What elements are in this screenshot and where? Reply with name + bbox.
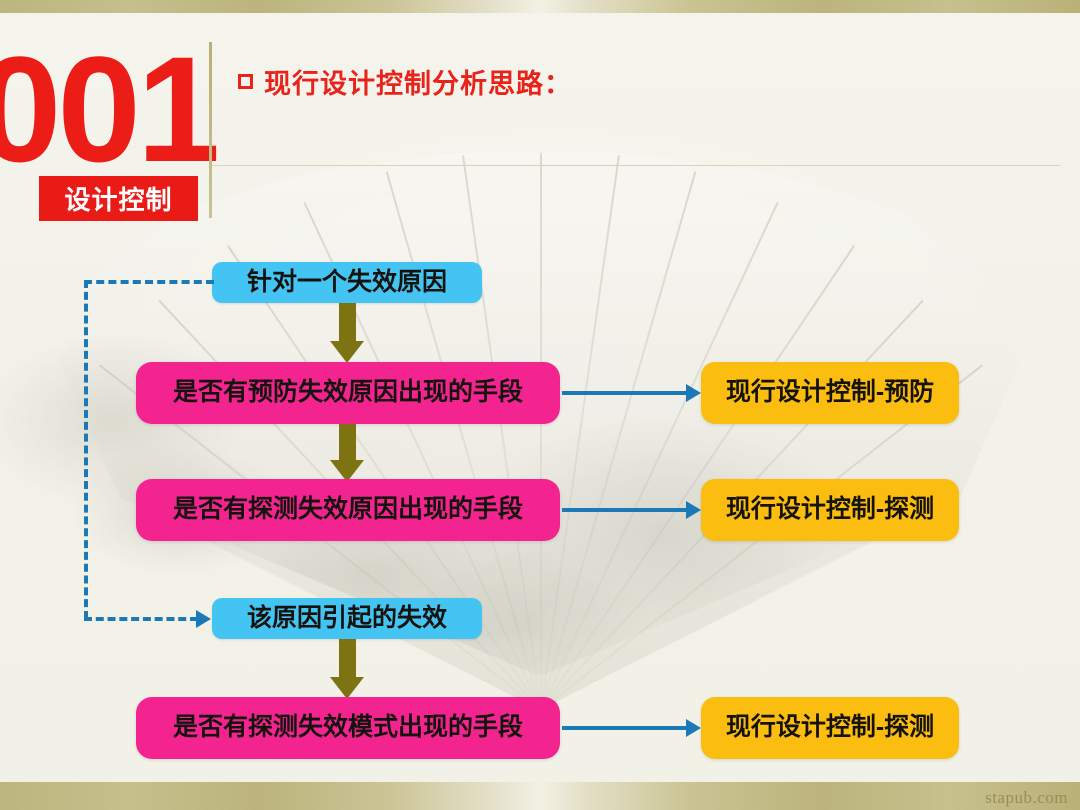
connector-prevent-to-control — [562, 391, 688, 395]
connector-detect-mode-arrowhead — [686, 719, 701, 737]
flow-node-control-prevent-label: 现行设计控制-预防 — [726, 379, 934, 407]
slide-canvas: 001 设计控制 现行设计控制分析思路： 针对一个失效原因 是否有预防失效原因出… — [0, 0, 1080, 810]
flow-node-control-detect-1-label: 现行设计控制-探测 — [726, 496, 934, 524]
flow-node-control-detect-1[interactable]: 现行设计控制-探测 — [701, 479, 959, 541]
flow-node-detect-cause[interactable]: 是否有探测失效原因出现的手段 — [136, 479, 560, 541]
flow-node-failure-mode-label: 该原因引起的失效 — [247, 605, 447, 633]
feedback-dash-bottom — [84, 617, 198, 621]
flow-node-prevent-cause-label: 是否有预防失效原因出现的手段 — [173, 379, 523, 407]
fan-left-wash — [0, 300, 310, 600]
down-arrow-2 — [330, 424, 364, 484]
connector-detect-cause-arrowhead — [686, 501, 701, 519]
feedback-dash-vertical — [84, 280, 88, 619]
flow-node-detect-mode[interactable]: 是否有探测失效模式出现的手段 — [136, 697, 560, 759]
header-vertical-divider — [209, 42, 212, 218]
header-horizontal-rule — [212, 165, 1060, 166]
flow-node-detect-mode-label: 是否有探测失效模式出现的手段 — [173, 714, 523, 742]
flow-node-detect-cause-label: 是否有探测失效原因出现的手段 — [173, 496, 523, 524]
down-arrow-3 — [330, 639, 364, 699]
chapter-number: 001 — [0, 34, 216, 184]
connector-prevent-arrowhead — [686, 384, 701, 402]
flow-node-control-detect-2[interactable]: 现行设计控制-探测 — [701, 697, 959, 759]
bottom-gold-band: stapub.com — [0, 782, 1080, 810]
flow-node-cause-label: 针对一个失效原因 — [247, 269, 447, 297]
down-arrow-1 — [330, 303, 364, 363]
connector-detect-cause-to-control — [562, 508, 688, 512]
feedback-dash-arrowhead — [196, 610, 211, 628]
site-watermark: stapub.com — [985, 788, 1068, 808]
chapter-tag-badge: 设计控制 — [39, 176, 198, 221]
flow-node-prevent-cause[interactable]: 是否有预防失效原因出现的手段 — [136, 362, 560, 424]
square-bullet-icon — [238, 74, 253, 89]
flow-node-failure-mode[interactable]: 该原因引起的失效 — [212, 598, 482, 639]
flow-node-control-prevent[interactable]: 现行设计控制-预防 — [701, 362, 959, 424]
connector-detect-mode-to-control — [562, 726, 688, 730]
chapter-tag-label: 设计控制 — [64, 180, 172, 217]
feedback-dash-top — [84, 280, 214, 284]
flow-node-cause[interactable]: 针对一个失效原因 — [212, 262, 482, 303]
page-title-text: 现行设计控制分析思路： — [264, 62, 572, 101]
page-title: 现行设计控制分析思路： — [238, 62, 572, 101]
flow-node-control-detect-2-label: 现行设计控制-探测 — [726, 714, 934, 742]
top-gold-band — [0, 0, 1080, 13]
